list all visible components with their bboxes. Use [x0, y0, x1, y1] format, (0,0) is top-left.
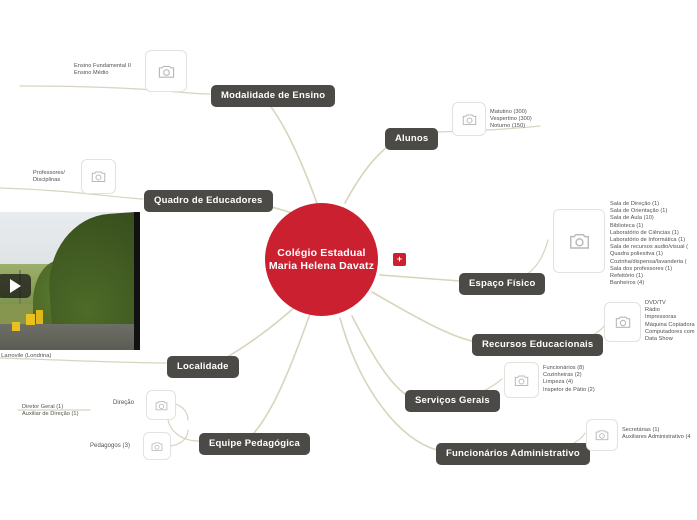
play-icon[interactable]	[0, 274, 31, 298]
camera-icon	[462, 113, 477, 126]
video-caption-localidade: la Larrovile (Londrina)	[0, 353, 51, 359]
leaf-quadro-de-educadores: Professores/ Disciplinas	[33, 170, 65, 184]
leaf-alunos: Matutino (300) Vespertino (300) Noturno …	[490, 109, 532, 131]
camera-icon	[158, 64, 175, 79]
image-placeholder-modalidade[interactable]	[145, 50, 187, 92]
leaf-direcao: Diretor Geral (1) Auxiliar de Direção (1…	[22, 404, 79, 418]
branch-localidade[interactable]: Localidade	[167, 356, 239, 378]
branch-alunos[interactable]: Alunos	[385, 128, 438, 150]
leaf-funcionarios-administrativo: Secretárias (1) Auxiliares Administrativ…	[622, 427, 691, 441]
leaf-recursos-educacionais: DVD/TV Rádio Impressoras Máquina Copiado…	[645, 300, 695, 343]
video-road-sign-2	[12, 322, 20, 331]
camera-icon	[514, 374, 529, 387]
central-node-title: Colégio Estadual Maria Helena Davatz	[265, 247, 378, 273]
branch-quadro-de-educadores[interactable]: Quadro de Educadores	[144, 190, 273, 212]
camera-icon	[155, 400, 168, 411]
video-thumbnail-localidade[interactable]	[0, 212, 140, 350]
image-placeholder-quadro-educadores[interactable]	[81, 159, 116, 194]
video-road-sign-1	[26, 314, 35, 325]
camera-icon	[569, 232, 590, 250]
video-road-sign-3	[36, 310, 43, 324]
image-placeholder-alunos[interactable]	[452, 102, 486, 136]
branch-recursos-educacionais[interactable]: Recursos Educacionais	[472, 334, 603, 356]
central-node[interactable]: Colégio Estadual Maria Helena Davatz +	[265, 203, 420, 316]
mindmap-canvas: Colégio Estadual Maria Helena Davatz + M…	[0, 0, 697, 520]
branch-funcionarios-administrativo[interactable]: Funcionários Administrativo	[436, 443, 590, 465]
image-placeholder-recursos-educacionais[interactable]	[604, 302, 641, 342]
image-placeholder-pedagogos[interactable]	[143, 432, 171, 460]
camera-icon	[615, 315, 631, 329]
camera-icon	[151, 441, 163, 452]
leaf-servicos-gerais: Funcionários (8) Cozinheiras (2) Limpeza…	[543, 365, 595, 394]
image-placeholder-servicos-gerais[interactable]	[504, 362, 539, 398]
central-node-circle[interactable]: Colégio Estadual Maria Helena Davatz	[265, 203, 378, 316]
image-placeholder-direcao[interactable]	[146, 390, 176, 420]
video-right-edge	[134, 212, 140, 350]
expand-badge-icon[interactable]: +	[393, 253, 406, 266]
branch-servicos-gerais[interactable]: Serviços Gerais	[405, 390, 500, 412]
image-placeholder-funcionarios-administrativo[interactable]	[586, 419, 618, 451]
video-road	[0, 324, 140, 350]
camera-icon	[595, 429, 609, 441]
branch-modalidade-de-ensino[interactable]: Modalidade de Ensino	[211, 85, 335, 107]
camera-icon	[91, 170, 106, 183]
sublabel-direcao: Direção	[113, 400, 134, 408]
branch-espaco-fisico[interactable]: Espaço Físico	[459, 273, 545, 295]
branch-equipe-pedagogica[interactable]: Equipe Pedagógica	[199, 433, 310, 455]
image-placeholder-espaco-fisico[interactable]	[553, 209, 605, 273]
sublabel-pedagogos: Pedagogos (3)	[90, 443, 130, 451]
leaf-espaco-fisico: Sala de Direção (1) Sala de Orientação (…	[610, 201, 688, 287]
leaf-modalidade-de-ensino: Ensino Fundamental II Ensino Médio	[74, 63, 131, 77]
